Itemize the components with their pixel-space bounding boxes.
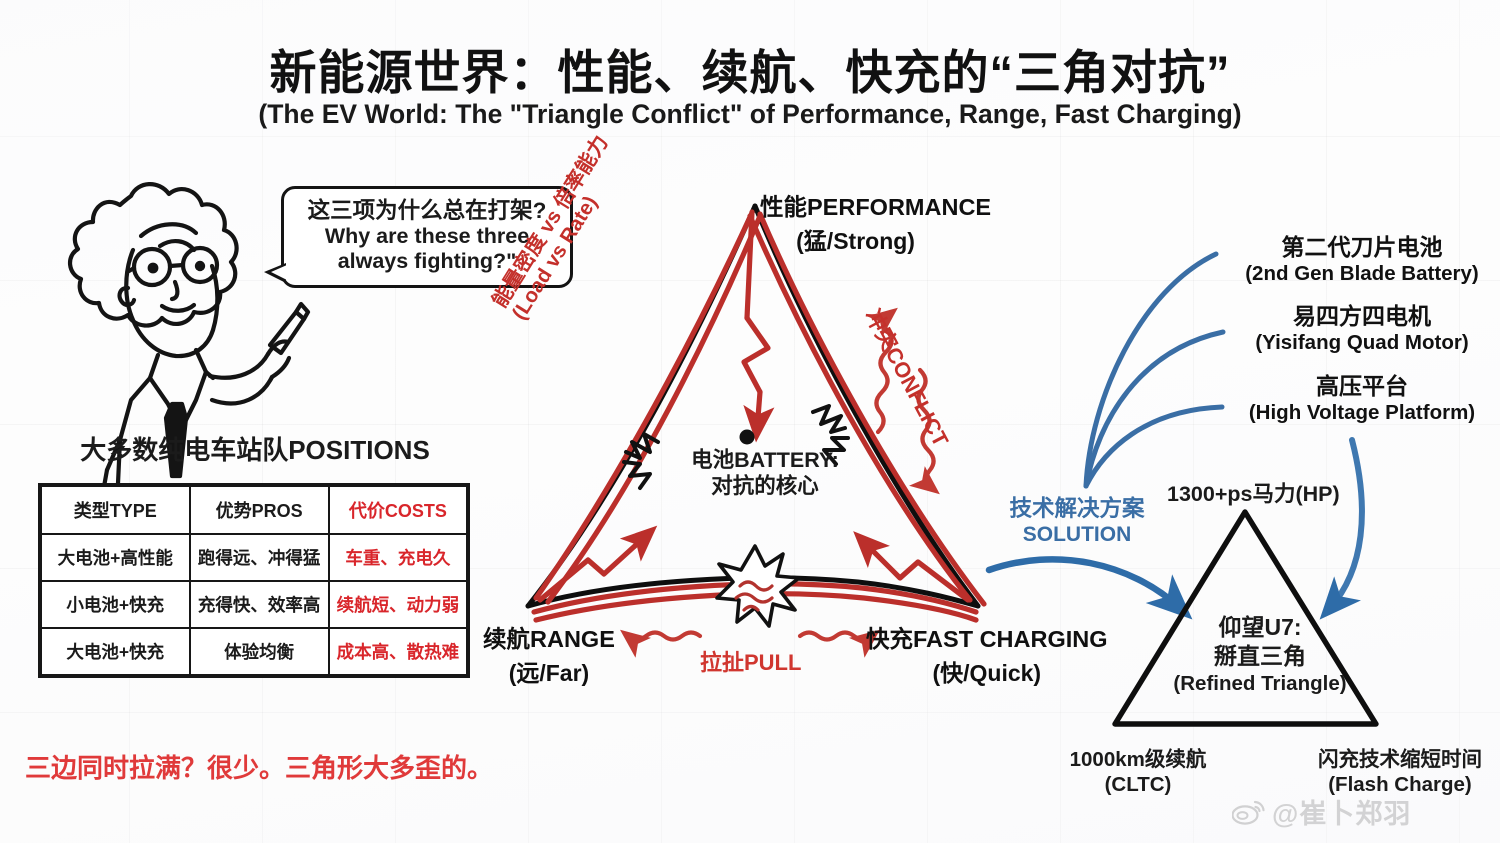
positions-table-title: 大多数纯电车站队POSITIONS [40, 430, 470, 467]
positions-table-note: 三边同时拉满？很少。三角形大多歪的。 [24, 748, 494, 785]
vertex-performance-zh: 性能PERFORMANCE [760, 188, 991, 222]
table-row: 大电池+快充 体验均衡 成本高、散热难 [40, 628, 468, 676]
solution-2-zh: 易四方四电机 [1232, 297, 1492, 331]
triangle-vertex-performance: 性能PERFORMANCE (猛/Strong) [760, 188, 991, 256]
u7-triangle-text: 仰望U7: 掰直三角 (Refined Triangle) [1150, 613, 1370, 697]
cell-type: 大电池+快充 [40, 628, 190, 676]
cell-costs: 车重、充电久 [329, 534, 468, 581]
cell-pros: 体验均衡 [190, 628, 329, 676]
solution-label-en: SOLUTION [997, 523, 1157, 547]
triangle-edge-pull: 拉扯PULL [700, 645, 801, 677]
u7-tagline-en: (Refined Triangle) [1150, 671, 1370, 697]
weibo-watermark: @崔卜郑羽 [1232, 792, 1411, 831]
positions-table: 类型TYPE 优势PROS 代价COSTS 大电池+高性能 跑得远、冲得猛 车重… [38, 483, 470, 678]
table-header-pros: 优势PROS [190, 485, 329, 534]
vertex-fast-sub: (快/Quick) [866, 654, 1108, 688]
table-header-row: 类型TYPE 优势PROS 代价COSTS [40, 485, 468, 534]
u7-flash-zh: 闪充技术缩短时间 [1285, 748, 1500, 773]
battery-line-1: 电池BATTERY: [665, 448, 865, 474]
solution-item-high-voltage: 高压平台 (High Voltage Platform) [1232, 367, 1492, 425]
solution-item-quad-motor: 易四方四电机 (Yisifang Quad Motor) [1232, 297, 1492, 355]
u7-name: 仰望U7: [1150, 613, 1370, 642]
vertex-performance-sub: (猛/Strong) [760, 222, 991, 256]
blue-arrow-to-u7 [989, 559, 1180, 608]
cell-costs: 续航短、动力弱 [329, 581, 468, 628]
bottom-burst-red [736, 582, 772, 610]
triangle-edge-conflict: 冲突CONFLICT [859, 303, 976, 485]
speech-line-2: Why are these three [294, 224, 560, 249]
blue-solution-fan [1086, 254, 1223, 486]
triangle-vertex-range: 续航RANGE (远/Far) [483, 620, 615, 688]
u7-horsepower-label: 1300+ps马力(HP) [1167, 477, 1340, 508]
vertex-range-sub: (远/Far) [483, 654, 615, 688]
solution-3-zh: 高压平台 [1232, 367, 1492, 401]
cell-costs: 成本高、散热难 [329, 628, 468, 676]
table-header-costs: 代价COSTS [329, 485, 468, 534]
table-row: 小电池+快充 充得快、效率高 续航短、动力弱 [40, 581, 468, 628]
cell-type: 大电池+高性能 [40, 534, 190, 581]
vertex-range-zh: 续航RANGE [483, 620, 615, 654]
solution-2-en: (Yisifang Quad Motor) [1232, 331, 1492, 355]
solution-3-en: (High Voltage Platform) [1232, 401, 1492, 425]
table-header-type: 类型TYPE [40, 485, 190, 534]
infographic-canvas: 新能源世界：性能、续航、快充的“三角对抗” (The EV World: The… [0, 0, 1500, 843]
speech-line-1: 这三项为什么总在打架? [294, 198, 560, 224]
cell-pros: 跑得远、冲得猛 [190, 534, 329, 581]
solution-1-en: (2nd Gen Blade Battery) [1232, 262, 1492, 286]
page-title-zh: 新能源世界：性能、续航、快充的“三角对抗” [0, 34, 1500, 103]
weibo-logo-icon [1232, 799, 1266, 825]
watermark-handle: @崔卜郑羽 [1272, 792, 1411, 831]
page-title-en: (The EV World: The "Triangle Conflict" o… [0, 99, 1500, 130]
u7-range-en: (CLTC) [1033, 773, 1243, 798]
u7-range-zh: 1000km级续航 [1033, 748, 1243, 773]
cell-type: 小电池+快充 [40, 581, 190, 628]
solution-item-blade-battery: 第二代刀片电池 (2nd Gen Blade Battery) [1232, 228, 1492, 286]
u7-range-label: 1000km级续航 (CLTC) [1033, 748, 1243, 797]
triangle-vertex-fast-charging: 快充FAST CHARGING (快/Quick) [866, 620, 1108, 688]
bottom-burst [717, 546, 799, 626]
triangle-center-battery-label: 电池BATTERY: 对抗的核心 [665, 448, 865, 500]
blue-arrow-right-down [1330, 440, 1362, 608]
center-dot [740, 430, 755, 445]
solution-label: 技术解决方案 SOLUTION [997, 491, 1157, 547]
cell-pros: 充得快、效率高 [190, 581, 329, 628]
u7-tagline-zh: 掰直三角 [1150, 642, 1370, 671]
solution-1-zh: 第二代刀片电池 [1232, 228, 1492, 262]
table-row: 大电池+高性能 跑得远、冲得猛 车重、充电久 [40, 534, 468, 581]
speech-bubble-tail-inner [271, 265, 287, 280]
u7-flash-charge-label: 闪充技术缩短时间 (Flash Charge) [1285, 748, 1500, 797]
solution-label-zh: 技术解决方案 [997, 491, 1157, 523]
vertex-fast-zh: 快充FAST CHARGING [866, 620, 1108, 654]
battery-line-2: 对抗的核心 [665, 474, 865, 500]
